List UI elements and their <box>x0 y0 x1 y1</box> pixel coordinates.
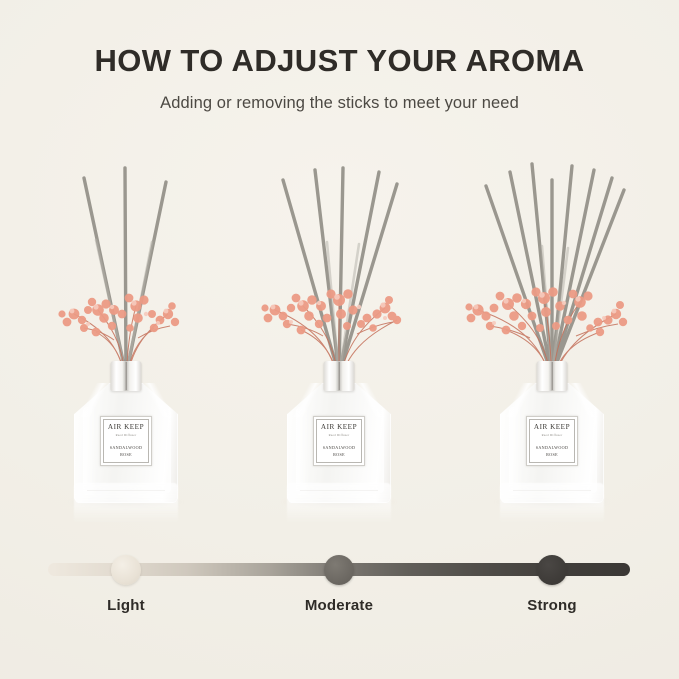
brand-name: AIR KEEP <box>108 424 144 431</box>
bottle-collar <box>324 361 355 391</box>
bottle-reflection <box>287 483 391 523</box>
bottle-highlight-right <box>587 409 597 493</box>
product-strong: AIR KEEP Reed Diffuser SANDALWOOD ROSE <box>452 150 652 525</box>
page-title: HOW TO ADJUST YOUR AROMA <box>0 44 679 78</box>
bottle-highlight-right <box>374 409 384 493</box>
bottle-label-inner: AIR KEEP Reed Diffuser SANDALWOOD ROSE <box>103 419 149 463</box>
scent-name-line2: ROSE <box>120 452 132 458</box>
header: HOW TO ADJUST YOUR AROMA Adding or remov… <box>0 44 679 113</box>
bottle-reflection <box>74 483 178 523</box>
diffuser-scene-strong: AIR KEEP Reed Diffuser SANDALWOOD ROSE <box>452 150 652 525</box>
brand-name: AIR KEEP <box>321 424 357 431</box>
infographic-canvas: HOW TO ADJUST YOUR AROMA Adding or remov… <box>0 0 679 679</box>
scent-name-line1: SANDALWOOD <box>323 445 356 451</box>
slider-knob-strong[interactable] <box>537 555 567 585</box>
bottle-highlight-left <box>296 407 309 495</box>
bottle-label: AIR KEEP Reed Diffuser SANDALWOOD ROSE <box>313 416 365 466</box>
bottle-collar <box>111 361 142 391</box>
slider-label-light: Light <box>46 597 206 614</box>
bottle-label-inner: AIR KEEP Reed Diffuser SANDALWOOD ROSE <box>529 419 575 463</box>
bottle-label-inner: AIR KEEP Reed Diffuser SANDALWOOD ROSE <box>316 419 362 463</box>
product-moderate: AIR KEEP Reed Diffuser SANDALWOOD ROSE <box>239 150 439 525</box>
brand-tagline: Reed Diffuser <box>542 434 563 437</box>
bottle-label: AIR KEEP Reed Diffuser SANDALWOOD ROSE <box>100 416 152 466</box>
scent-name-line1: SANDALWOOD <box>536 445 569 451</box>
slider-label-strong: Strong <box>472 597 632 614</box>
bottle-highlight-left <box>83 407 96 495</box>
aroma-intensity-slider[interactable]: Light Moderate Strong <box>0 545 679 645</box>
product-light: AIR KEEP Reed Diffuser SANDALWOOD ROSE <box>26 150 226 525</box>
slider-label-moderate: Moderate <box>259 597 419 614</box>
brand-tagline: Reed Diffuser <box>116 434 137 437</box>
page-subtitle: Adding or removing the sticks to meet yo… <box>0 94 679 113</box>
scent-name-line2: ROSE <box>546 452 558 458</box>
scent-name-line2: ROSE <box>333 452 345 458</box>
slider-knob-moderate[interactable] <box>324 555 354 585</box>
brand-tagline: Reed Diffuser <box>329 434 350 437</box>
bottle-collar <box>537 361 568 391</box>
diffuser-scene-light: AIR KEEP Reed Diffuser SANDALWOOD ROSE <box>26 150 226 525</box>
bottle-highlight-right <box>161 409 171 493</box>
diffuser-scene-moderate: AIR KEEP Reed Diffuser SANDALWOOD ROSE <box>239 150 439 525</box>
brand-name: AIR KEEP <box>534 424 570 431</box>
bottle-highlight-left <box>509 407 522 495</box>
diffuser-bottle-light: AIR KEEP Reed Diffuser SANDALWOOD ROSE <box>74 361 178 503</box>
bottle-reflection <box>500 483 604 523</box>
slider-knob-light[interactable] <box>111 555 141 585</box>
product-comparison-row: AIR KEEP Reed Diffuser SANDALWOOD ROSE <box>0 150 679 525</box>
diffuser-bottle-moderate: AIR KEEP Reed Diffuser SANDALWOOD ROSE <box>287 361 391 503</box>
diffuser-bottle-strong: AIR KEEP Reed Diffuser SANDALWOOD ROSE <box>500 361 604 503</box>
scent-name-line1: SANDALWOOD <box>110 445 143 451</box>
bottle-label: AIR KEEP Reed Diffuser SANDALWOOD ROSE <box>526 416 578 466</box>
